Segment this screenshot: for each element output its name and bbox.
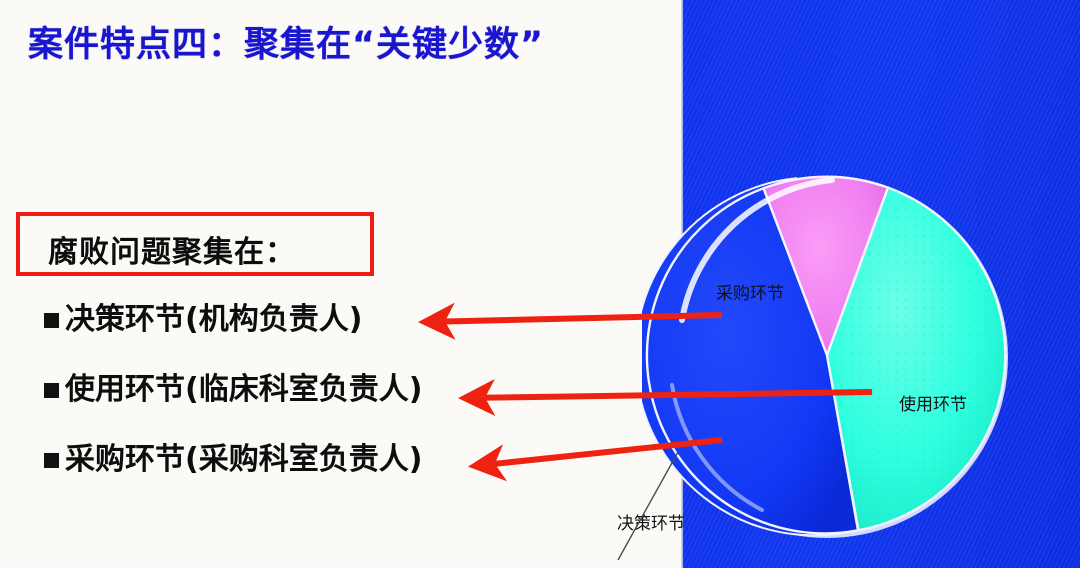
page-title: 案件特点四：聚集在“关键少数”: [28, 16, 544, 67]
list-item-label: 决策环节(机构负责人): [65, 305, 362, 335]
pie-chart-svg: [642, 170, 1012, 540]
bullet-square-icon: [44, 383, 59, 398]
list-item: 采购环节(采购科室负责人): [44, 436, 514, 484]
list-item: 决策环节(机构负责人): [44, 296, 514, 344]
pie-chart: [642, 170, 1012, 540]
bullet-square-icon: [44, 313, 59, 328]
slide-canvas: 案件特点四：聚集在“关键少数” 腐败问题聚集在： 决策环节(机构负责人) 使用环…: [0, 0, 1080, 568]
callout-box: 腐败问题聚集在：: [16, 212, 374, 276]
bullet-square-icon: [44, 453, 59, 468]
bullet-list: 决策环节(机构负责人) 使用环节(临床科室负责人) 采购环节(采购科室负责人): [44, 296, 514, 506]
callout-heading: 腐败问题聚集在：: [48, 227, 296, 271]
list-item: 使用环节(临床科室负责人): [44, 366, 514, 414]
list-item-label: 使用环节(临床科室负责人): [65, 375, 422, 405]
list-item-label: 采购环节(采购科室负责人): [65, 445, 422, 475]
pie-label-purchase: 采购环节: [716, 279, 784, 304]
pie-label-decision: 决策环节: [617, 509, 685, 534]
pie-label-usage: 使用环节: [899, 390, 967, 415]
